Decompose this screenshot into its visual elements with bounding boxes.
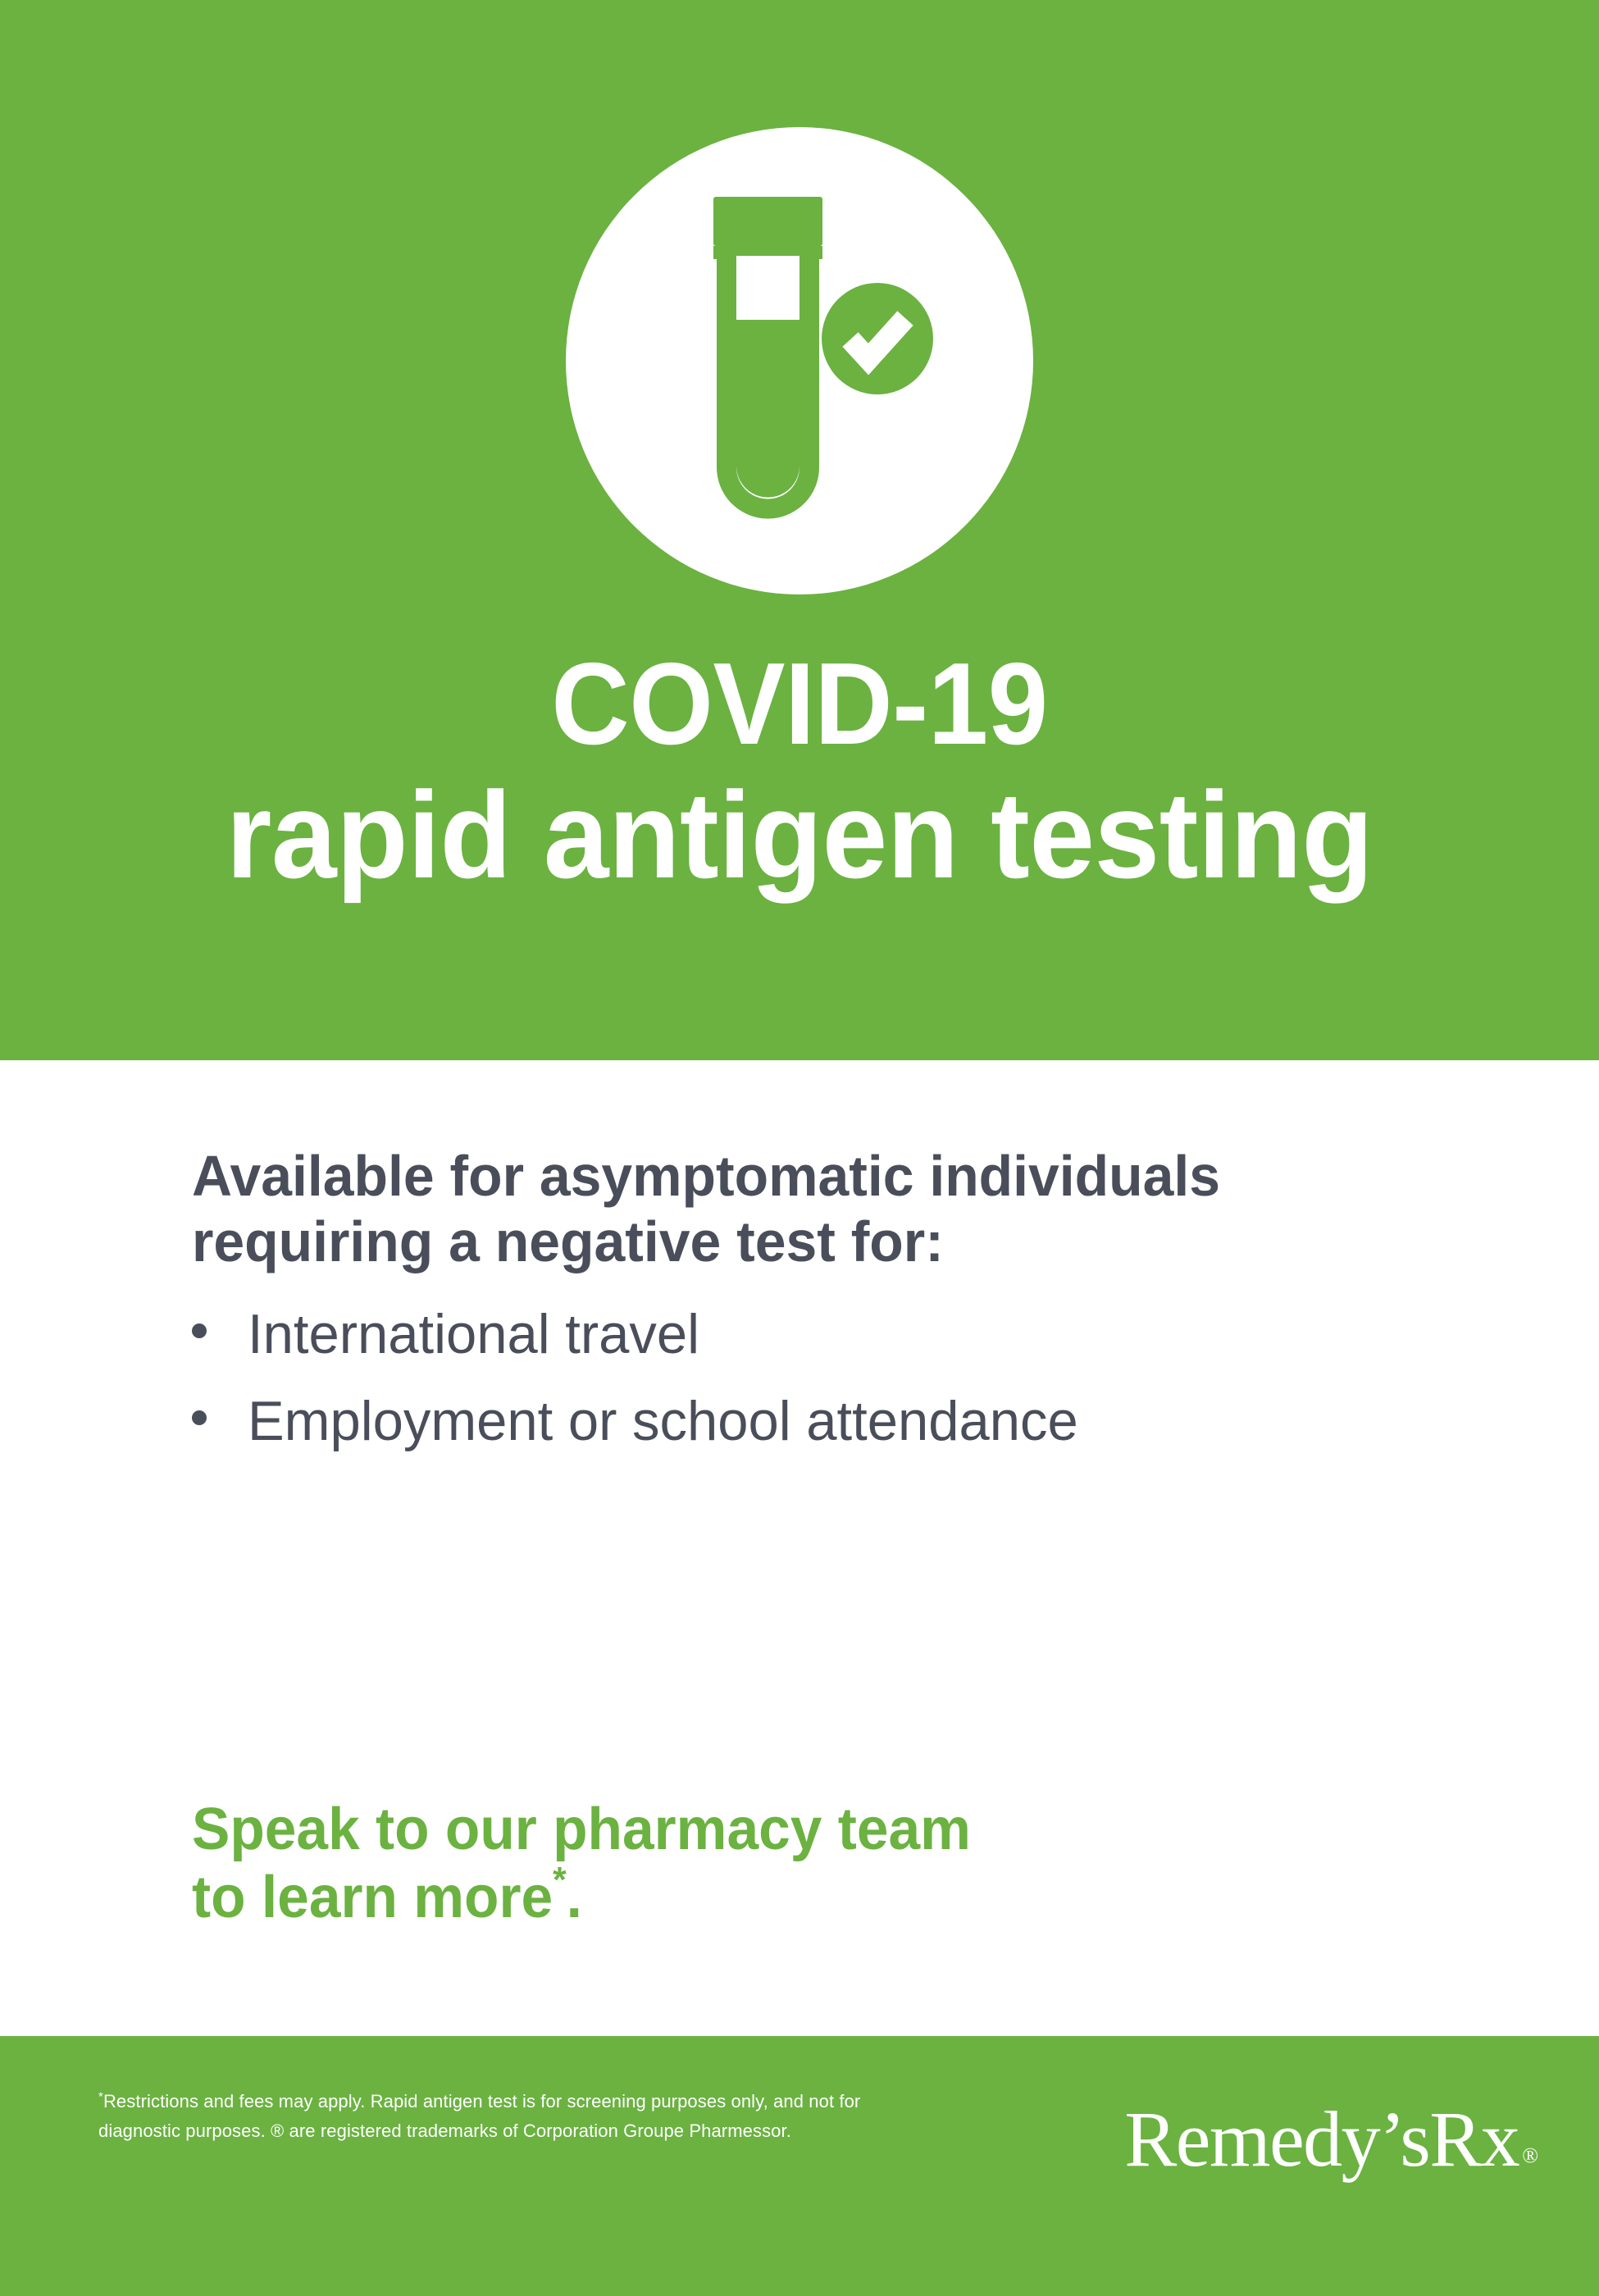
poster-title: COVID-19 rapid antigen testing	[0, 648, 1599, 895]
list-item: Employment or school attendance	[192, 1393, 1504, 1449]
title-line-covid19: COVID-19	[56, 648, 1543, 761]
poster-body: Available for asymptomatic individuals r…	[0, 1060, 1599, 2036]
list-item: International travel	[192, 1306, 1504, 1362]
test-tube-check-icon	[566, 127, 1033, 594]
cta-line-2-text: to learn more	[192, 1865, 553, 1930]
disclaimer-text-part-2: are registered trademarks of Corporation…	[284, 2121, 791, 2141]
eligibility-list: International travel Employment or schoo…	[192, 1306, 1504, 1480]
list-item-label: Employment or school attendance	[248, 1393, 1078, 1449]
cta-line-2: to learn more*.	[192, 1864, 1300, 1932]
eligibility-heading-line-1: Available for asymptomatic individuals	[192, 1144, 1433, 1209]
legal-disclaimer: *Restrictions and fees may apply. Rapid …	[98, 2087, 927, 2145]
bullet-dot-icon	[192, 1323, 207, 1338]
registered-trademark-icon: ®	[271, 2121, 284, 2141]
logo-wordmark: Remedy’sRx	[1124, 2095, 1519, 2183]
poster-header: COVID-19 rapid antigen testing	[0, 0, 1599, 1060]
cta-footnote-marker: *	[553, 1860, 567, 1900]
logo-registered-icon: ®	[1522, 2143, 1538, 2167]
list-item-label: International travel	[248, 1306, 699, 1362]
bullet-dot-icon	[192, 1410, 207, 1425]
cta-line-2-period: .	[567, 1865, 582, 1930]
call-to-action: Speak to our pharmacy team to learn more…	[192, 1796, 1300, 1932]
eligibility-heading-line-2: requiring a negative test for:	[192, 1209, 1433, 1275]
poster-footer: *Restrictions and fees may apply. Rapid …	[0, 2036, 1599, 2296]
remedysrx-logo: Remedy’sRx®	[1124, 2100, 1535, 2179]
eligibility-heading: Available for asymptomatic individuals r…	[192, 1144, 1433, 1275]
title-line-rapid-antigen-testing: rapid antigen testing	[36, 776, 1563, 895]
poster-root: COVID-19 rapid antigen testing Available…	[0, 0, 1599, 2296]
cta-line-1: Speak to our pharmacy team	[192, 1796, 1300, 1864]
